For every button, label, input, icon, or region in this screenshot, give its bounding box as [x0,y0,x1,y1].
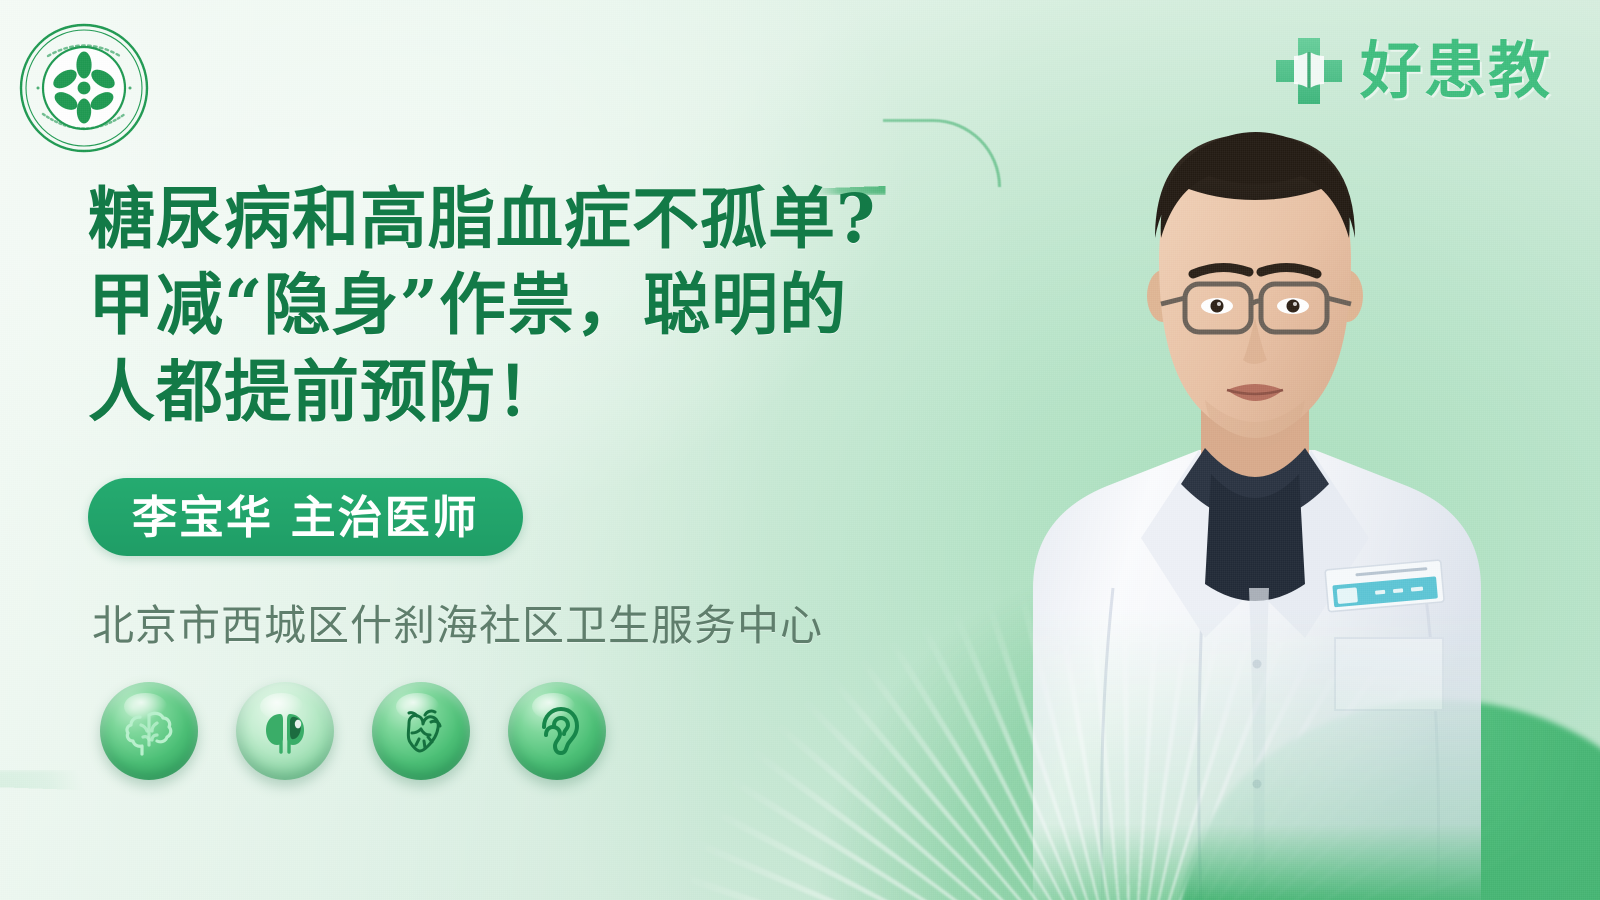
headline-line-2: 甲减“隐身”作祟，聪明的 [88,262,1018,348]
brand-logo: 好患教 [1272,34,1552,108]
presenter-name-badge: 李宝华 主治医师 [88,478,523,556]
presenter-name-label: 李宝华 主治医师 [132,495,479,540]
ear-icon [508,682,606,780]
headline-line-1: 糖尿病和高脂血症不孤单? [88,176,1018,262]
presenter-affiliation: 北京市西城区什刹海社区卫生服务中心 [92,592,823,653]
poster-canvas: 好患教 [0,0,1600,900]
kidney-icon [236,682,334,780]
page-title: 糖尿病和高脂血症不孤单? 甲减“隐身”作祟，聪明的 人都提前预防！ [88,176,1018,435]
org-seal-logo [18,22,150,154]
headline-line-3: 人都提前预防！ [88,349,1018,435]
brain-icon [100,682,198,780]
organ-icon-row [100,682,606,780]
heart-icon [372,682,470,780]
medical-cross-book-icon [1272,34,1346,108]
brand-name-text: 好患教 [1360,40,1552,102]
